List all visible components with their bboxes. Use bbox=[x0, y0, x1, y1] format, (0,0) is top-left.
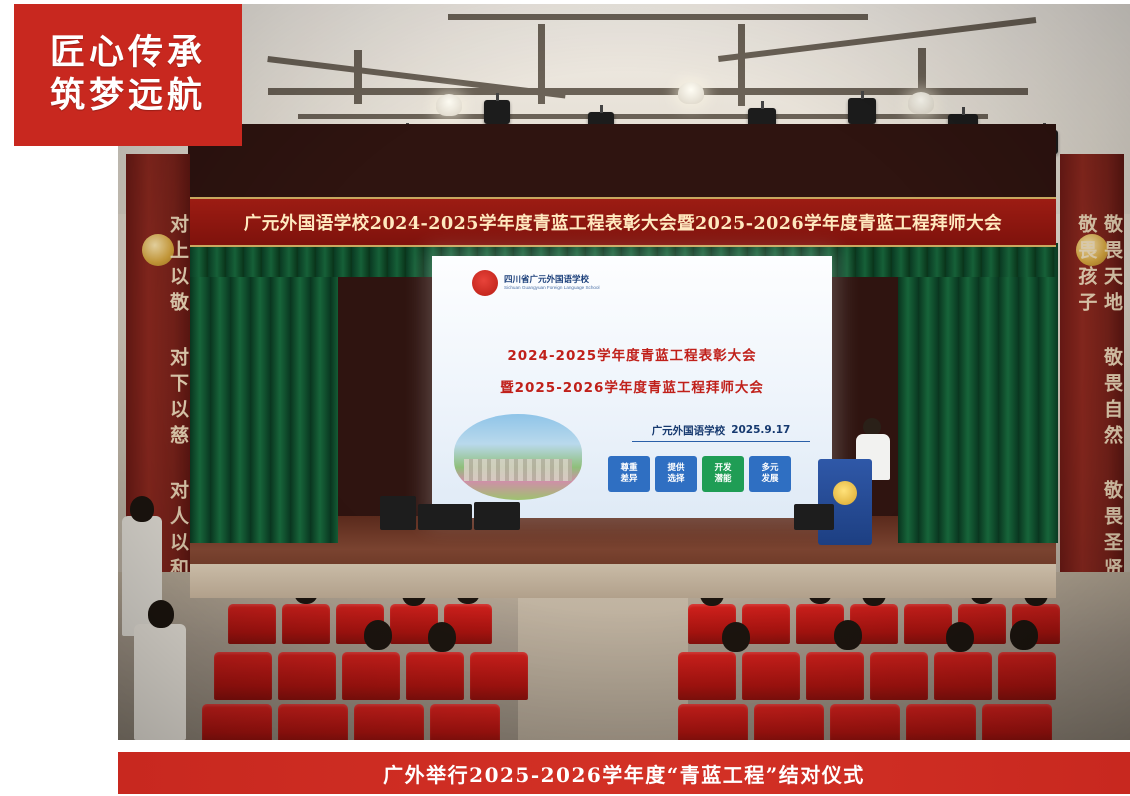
audience-seat bbox=[278, 652, 336, 700]
audience-seat bbox=[982, 704, 1052, 740]
audience-seat bbox=[906, 704, 976, 740]
slide-chip: 尊重 差异 bbox=[608, 456, 650, 492]
audience-seat bbox=[278, 704, 348, 740]
audience-seat bbox=[678, 704, 748, 740]
ceiling-truss-beam bbox=[538, 24, 545, 104]
audience-head bbox=[364, 620, 392, 650]
loudspeaker-icon bbox=[474, 502, 520, 530]
corner-banner: 匠心传承 筑梦远航 bbox=[14, 4, 242, 146]
loudspeaker-icon bbox=[794, 504, 834, 530]
event-photo: 广元外国语学校2024-2025学年度青蓝工程表彰大会暨2025-2026学年度… bbox=[118, 4, 1130, 740]
chip-line1: 多元 bbox=[761, 463, 778, 474]
audience-seat bbox=[870, 652, 928, 700]
caption-bar: 广外举行2025-2026学年度“青蓝工程”结对仪式 bbox=[118, 752, 1130, 794]
chip-line2: 选择 bbox=[667, 474, 684, 485]
audience-head bbox=[130, 496, 154, 522]
projection-screen: 四川省广元外国语学校 Sichuan Guangyuan Foreign Lan… bbox=[432, 256, 832, 518]
slide-chip: 开发 潜能 bbox=[702, 456, 744, 492]
stage-front-apron bbox=[190, 564, 1056, 598]
school-emblem-icon bbox=[472, 270, 498, 296]
audience-head bbox=[428, 622, 456, 652]
ceiling-truss-beam bbox=[298, 114, 988, 119]
loudspeaker-icon bbox=[418, 504, 472, 530]
audience-head bbox=[1010, 620, 1038, 650]
school-logo: 四川省广元外国语学校 Sichuan Guangyuan Foreign Lan… bbox=[472, 270, 600, 296]
audience-seat bbox=[342, 652, 400, 700]
podium-emblem-icon bbox=[833, 481, 857, 505]
school-name-en: Sichuan Guangyuan Foreign Language Schoo… bbox=[504, 285, 600, 291]
chip-line2: 差异 bbox=[620, 474, 637, 485]
audience-seat bbox=[678, 652, 736, 700]
loudspeaker-icon bbox=[380, 496, 416, 530]
slide-footer-date: 2025.9.17 bbox=[731, 424, 790, 436]
audience-seat bbox=[228, 604, 276, 644]
audience-seat bbox=[430, 704, 500, 740]
corner-banner-line2: 筑梦远航 bbox=[50, 75, 206, 118]
slide-chip-group: 尊重 差异 提供 选择 开发 潜能 多元 发展 bbox=[608, 456, 791, 492]
ceiling-truss-beam bbox=[448, 14, 868, 20]
audience-head bbox=[722, 622, 750, 652]
audience-seat bbox=[282, 604, 330, 644]
slide-title-line1: 2024-2025学年度青蓝工程表彰大会 bbox=[432, 344, 832, 364]
ceiling-truss-beam bbox=[738, 24, 745, 106]
audience-seat bbox=[742, 652, 800, 700]
stage-curtain-left bbox=[190, 243, 338, 543]
slide-footer-school: 广元外国语学校 bbox=[652, 423, 726, 438]
audience-seat bbox=[354, 704, 424, 740]
audience-seat bbox=[406, 652, 464, 700]
audience-seat bbox=[830, 704, 900, 740]
hall-banner-text: 广元外国语学校2024-2025学年度青蓝工程表彰大会暨2025-2026学年度… bbox=[244, 210, 1002, 235]
audience-head bbox=[946, 622, 974, 652]
chip-line1: 尊重 bbox=[620, 463, 637, 474]
page-root: 广元外国语学校2024-2025学年度青蓝工程表彰大会暨2025-2026学年度… bbox=[0, 0, 1130, 796]
slide-chip: 提供 选择 bbox=[655, 456, 697, 492]
chip-line2: 发展 bbox=[761, 474, 778, 485]
podium bbox=[818, 459, 872, 545]
ceiling-dome-light-icon bbox=[436, 94, 462, 116]
school-name-cn: 四川省广元外国语学校 bbox=[504, 275, 600, 286]
hall-banner: 广元外国语学校2024-2025学年度青蓝工程表彰大会暨2025-2026学年度… bbox=[190, 197, 1056, 247]
audience-seat bbox=[934, 652, 992, 700]
audience-seat bbox=[214, 652, 272, 700]
audience-seat bbox=[202, 704, 272, 740]
audience-seat bbox=[806, 652, 864, 700]
chip-line1: 开发 bbox=[714, 463, 731, 474]
audience-person bbox=[134, 624, 186, 740]
stage-lamp-icon bbox=[848, 98, 876, 124]
ceiling-dome-light-icon bbox=[908, 92, 934, 114]
audience-seat bbox=[754, 704, 824, 740]
slide-footer: 广元外国语学校 2025.9.17 bbox=[632, 419, 810, 442]
slide-title-line2: 暨2025-2026学年度青蓝工程拜师大会 bbox=[432, 376, 832, 396]
audience-head bbox=[148, 600, 174, 628]
ceiling-truss-beam bbox=[354, 50, 362, 104]
audience-seat bbox=[904, 604, 952, 644]
stage-curtain-right bbox=[898, 243, 1058, 543]
audience-seat bbox=[998, 652, 1056, 700]
audience-seat bbox=[470, 652, 528, 700]
corner-banner-line1: 匠心传承 bbox=[50, 32, 206, 75]
slide-chip: 多元 发展 bbox=[749, 456, 791, 492]
audience-head bbox=[834, 620, 862, 650]
chip-line2: 潜能 bbox=[714, 474, 731, 485]
stage-lamp-icon bbox=[484, 100, 510, 124]
slide-campus-photo bbox=[454, 414, 582, 500]
ceiling-dome-light-icon bbox=[678, 82, 704, 104]
caption-text: 广外举行2025-2026学年度“青蓝工程”结对仪式 bbox=[383, 759, 865, 788]
chip-line1: 提供 bbox=[667, 463, 684, 474]
